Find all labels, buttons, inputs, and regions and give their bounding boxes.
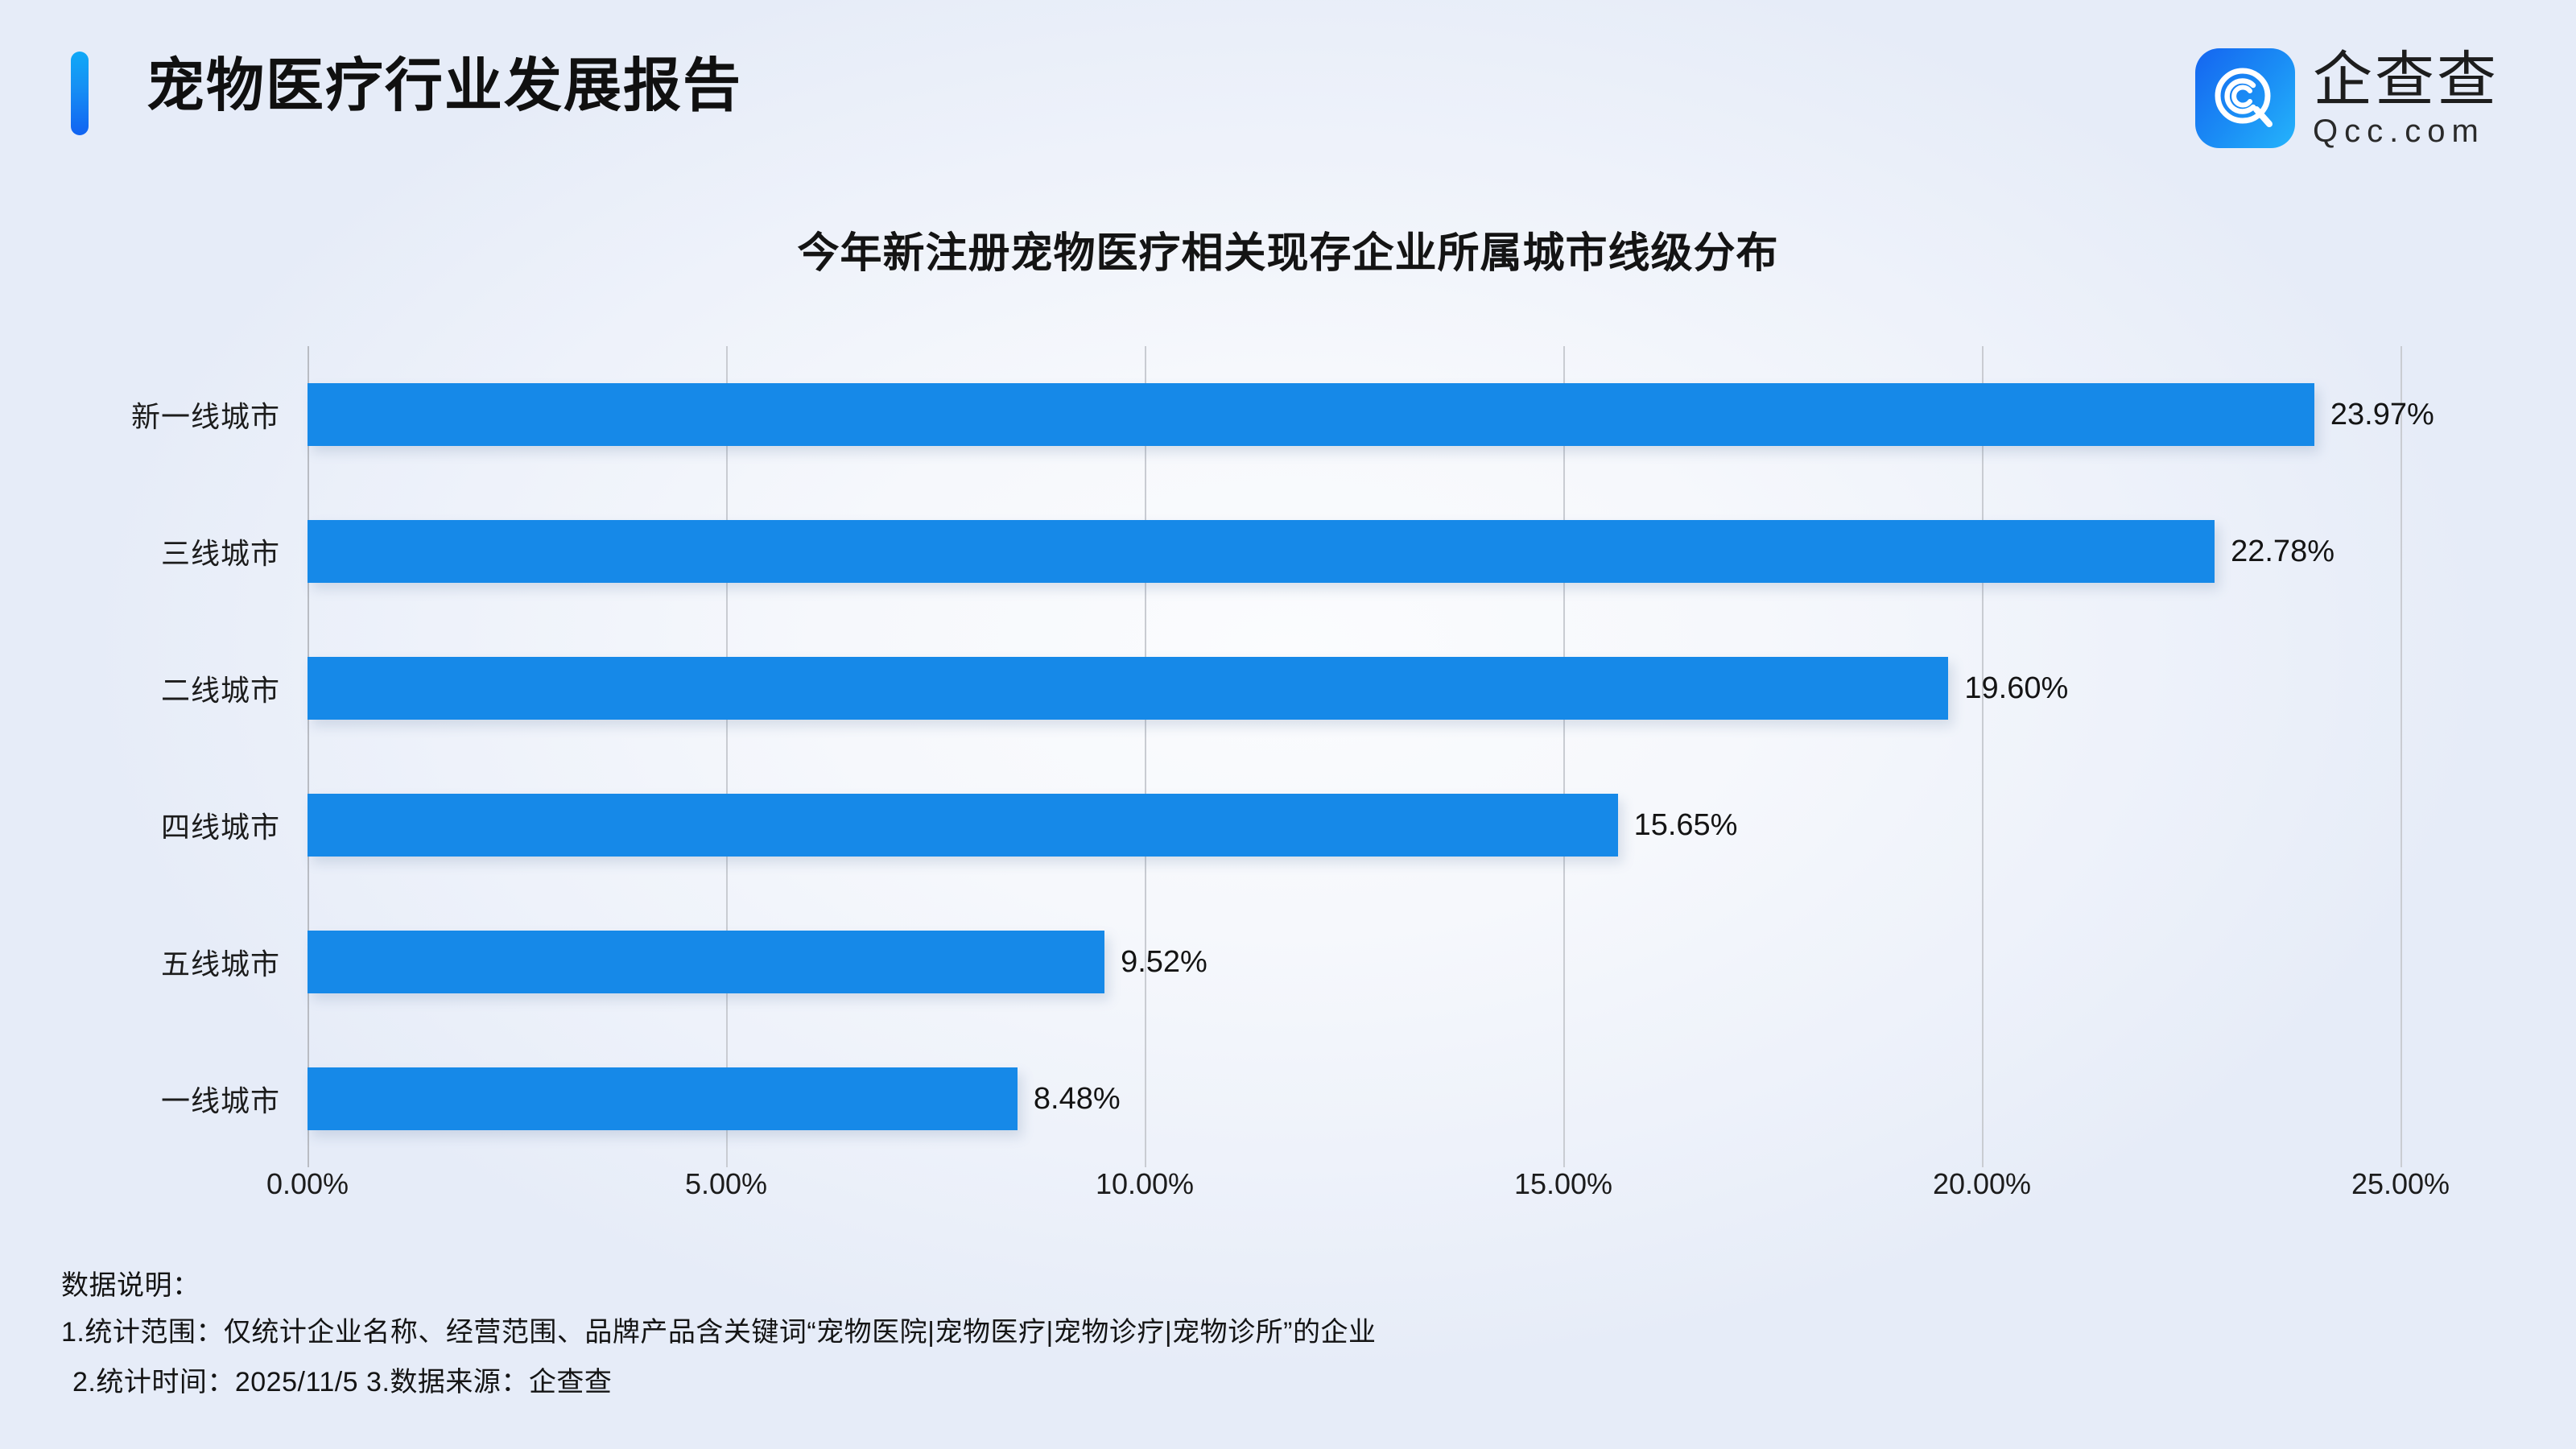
bar[interactable] (308, 1067, 1018, 1130)
bar[interactable] (308, 383, 2314, 446)
bar[interactable] (308, 794, 1618, 857)
bar-value-label: 22.78% (2231, 535, 2334, 569)
bar-row[interactable]: 四线城市15.65% (308, 757, 2401, 894)
bar-rows: 新一线城市23.97%三线城市22.78%二线城市19.60%四线城市15.65… (308, 346, 2401, 1167)
bar-value-label: 9.52% (1121, 945, 1207, 980)
bar-chart: 新一线城市23.97%三线城市22.78%二线城市19.60%四线城市15.65… (0, 322, 2576, 1224)
bar-value-label: 23.97% (2330, 398, 2434, 432)
bar-value-label: 15.65% (1634, 808, 1738, 843)
bar-row[interactable]: 二线城市19.60% (308, 620, 2401, 757)
footer-heading: 数据说明： (61, 1264, 2476, 1307)
brand-logo: 企查查 Qcc.com (2195, 47, 2499, 150)
x-axis-tick-label: 20.00% (1933, 1167, 2031, 1201)
gridline (2401, 346, 2402, 1167)
footer-note-2: 2.统计时间：2025/11/5 3.数据来源：企查查 (61, 1357, 2476, 1407)
bar[interactable] (308, 520, 2215, 583)
title-accent-bar (71, 52, 89, 135)
x-axis-tick-label: 25.00% (2351, 1167, 2450, 1201)
category-label: 新一线城市 (131, 394, 280, 436)
brand-name-cn: 企查查 (2313, 47, 2499, 113)
x-axis-tick-label: 15.00% (1514, 1167, 1612, 1201)
x-axis-tick-label: 5.00% (685, 1167, 767, 1201)
brand-wordmark: 企查查 Qcc.com (2313, 47, 2499, 150)
category-label: 四线城市 (161, 804, 280, 846)
bar-row[interactable]: 三线城市22.78% (308, 483, 2401, 620)
category-label: 五线城市 (161, 941, 280, 983)
bar-value-label: 19.60% (1964, 671, 2068, 706)
page-header: 宠物医疗行业发展报告 企查查 Qcc.com (0, 0, 2576, 185)
bar-value-label: 8.48% (1034, 1082, 1121, 1117)
category-label: 三线城市 (161, 530, 280, 572)
category-label: 一线城市 (161, 1078, 280, 1120)
bar-row[interactable]: 新一线城市23.97% (308, 346, 2401, 483)
bar[interactable] (308, 657, 1948, 720)
brand-name-en: Qcc.com (2313, 113, 2499, 150)
chart-subtitle: 今年新注册宠物医疗相关现存企业所属城市线级分布 (0, 219, 2576, 279)
footer-note-1: 1.统计范围：仅统计企业名称、经营范围、品牌产品含关键词“宠物医院|宠物医疗|宠… (61, 1307, 2476, 1357)
bar[interactable] (308, 931, 1104, 993)
qcc-q-logo-icon (2195, 48, 2295, 148)
x-axis-tick-label: 0.00% (266, 1167, 349, 1201)
x-axis: 0.00%5.00%10.00%15.00%20.00%25.00% (308, 1167, 2401, 1224)
category-label: 二线城市 (161, 667, 280, 709)
x-axis-tick-label: 10.00% (1096, 1167, 1194, 1201)
footer-notes: 数据说明： 1.统计范围：仅统计企业名称、经营范围、品牌产品含关键词“宠物医院|… (61, 1264, 2476, 1407)
plot-area: 新一线城市23.97%三线城市22.78%二线城市19.60%四线城市15.65… (308, 346, 2401, 1167)
page-title: 宠物医疗行业发展报告 (147, 42, 742, 130)
bar-row[interactable]: 五线城市9.52% (308, 894, 2401, 1030)
bar-row[interactable]: 一线城市8.48% (308, 1030, 2401, 1167)
